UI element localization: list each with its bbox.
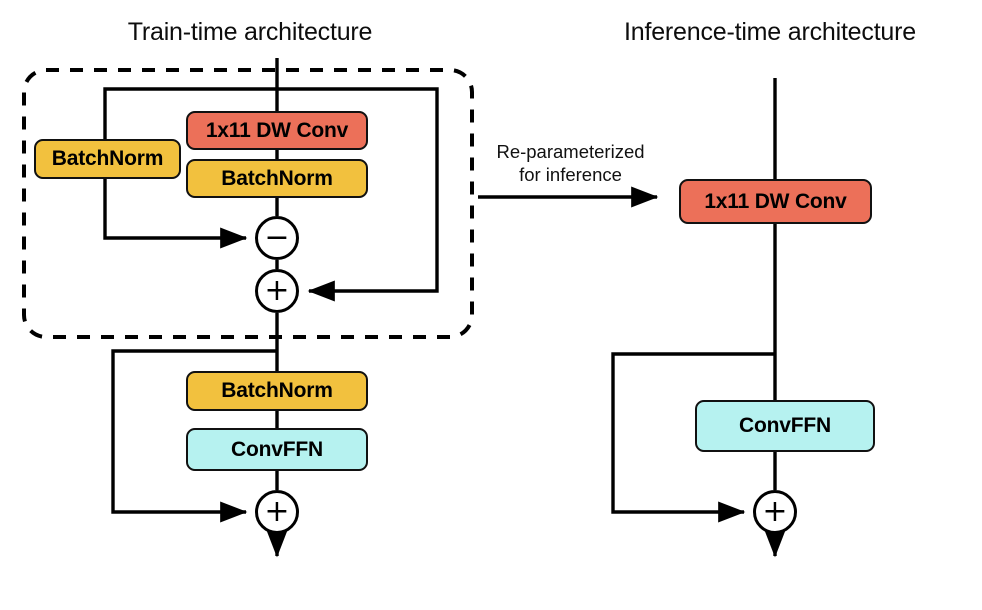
architecture-diagram: Train-time architecture Inference-time a…: [0, 0, 982, 610]
train-dw-conv-box[interactable]: 1x11 DW Conv: [186, 111, 368, 150]
train-main-batchnorm-box[interactable]: BatchNorm: [186, 159, 368, 198]
train-subtract-node[interactable]: −: [255, 216, 299, 260]
train-ffn-batchnorm-box[interactable]: BatchNorm: [186, 371, 368, 411]
train-dw-conv-label: 1x11 DW Conv: [206, 119, 348, 143]
train-convffn-label: ConvFFN: [231, 438, 323, 462]
train-convffn-box[interactable]: ConvFFN: [186, 428, 368, 471]
train-add-node-top[interactable]: +: [255, 269, 299, 313]
inference-panel-title: Inference-time architecture: [560, 18, 980, 47]
inference-convffn-box[interactable]: ConvFFN: [695, 400, 875, 452]
reparameterize-label: Re-parameterized for inference: [478, 141, 663, 186]
inference-convffn-label: ConvFFN: [739, 414, 831, 438]
inference-add-node[interactable]: +: [753, 490, 797, 534]
minus-icon: −: [264, 223, 289, 253]
train-left-batchnorm-label: BatchNorm: [52, 147, 163, 171]
plus-icon: +: [264, 497, 289, 527]
inference-dw-conv-box[interactable]: 1x11 DW Conv: [679, 179, 872, 224]
diagram-connectors: [0, 0, 982, 610]
train-main-batchnorm-label: BatchNorm: [221, 167, 332, 191]
reparameterize-label-line1: Re-parameterized: [478, 141, 663, 164]
plus-icon: +: [264, 276, 289, 306]
train-left-batchnorm-box[interactable]: BatchNorm: [34, 139, 181, 179]
train-ffn-batchnorm-label: BatchNorm: [221, 379, 332, 403]
inference-dw-conv-label: 1x11 DW Conv: [704, 190, 846, 214]
reparameterize-label-line2: for inference: [478, 164, 663, 187]
plus-icon: +: [762, 497, 787, 527]
train-add-node-bottom[interactable]: +: [255, 490, 299, 534]
train-panel-title: Train-time architecture: [0, 18, 500, 47]
